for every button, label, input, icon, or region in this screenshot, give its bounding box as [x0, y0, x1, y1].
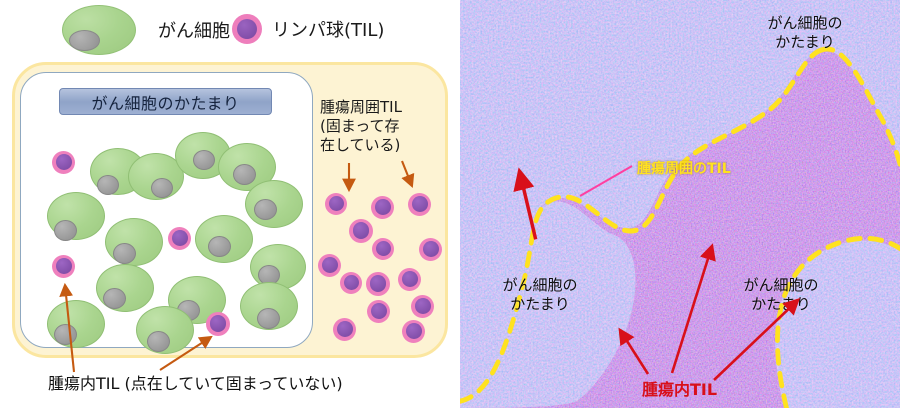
histology-panel: 腫瘍周囲のTIL がん細胞の かたまり がん細胞の かたまり がん細胞の かたま…: [460, 0, 900, 408]
arrow-caption-left: [620, 330, 648, 374]
peritumoral-til-label-line-3: 在している): [320, 136, 452, 155]
arrow-intratumoral-left: [65, 285, 74, 372]
peritumoral-til-label: 腫瘍周囲TIL (固まって存 在している): [320, 98, 452, 155]
schematic-panel: がん細胞 リンパ球(TIL) がん細胞のかたまり: [0, 0, 460, 408]
arrow-caption-right: [714, 300, 798, 380]
histology-intratumoral-caption: 腫瘍内TIL: [642, 376, 717, 400]
arrow-peritumoral-right: [402, 161, 412, 186]
arrow-caption-middle: [672, 246, 712, 373]
intratumoral-til-caption: 腫瘍内TIL (点在していて固まっていない): [48, 370, 448, 394]
peritumoral-til-label-line-1: 腫瘍周囲TIL: [320, 98, 452, 117]
intratumoral-caption-arrows: [460, 0, 900, 408]
peritumoral-til-label-line-2: (固まって存: [320, 117, 452, 136]
arrow-intratumoral-right: [160, 337, 211, 370]
intratumoral-arrows-schematic: [0, 0, 460, 408]
